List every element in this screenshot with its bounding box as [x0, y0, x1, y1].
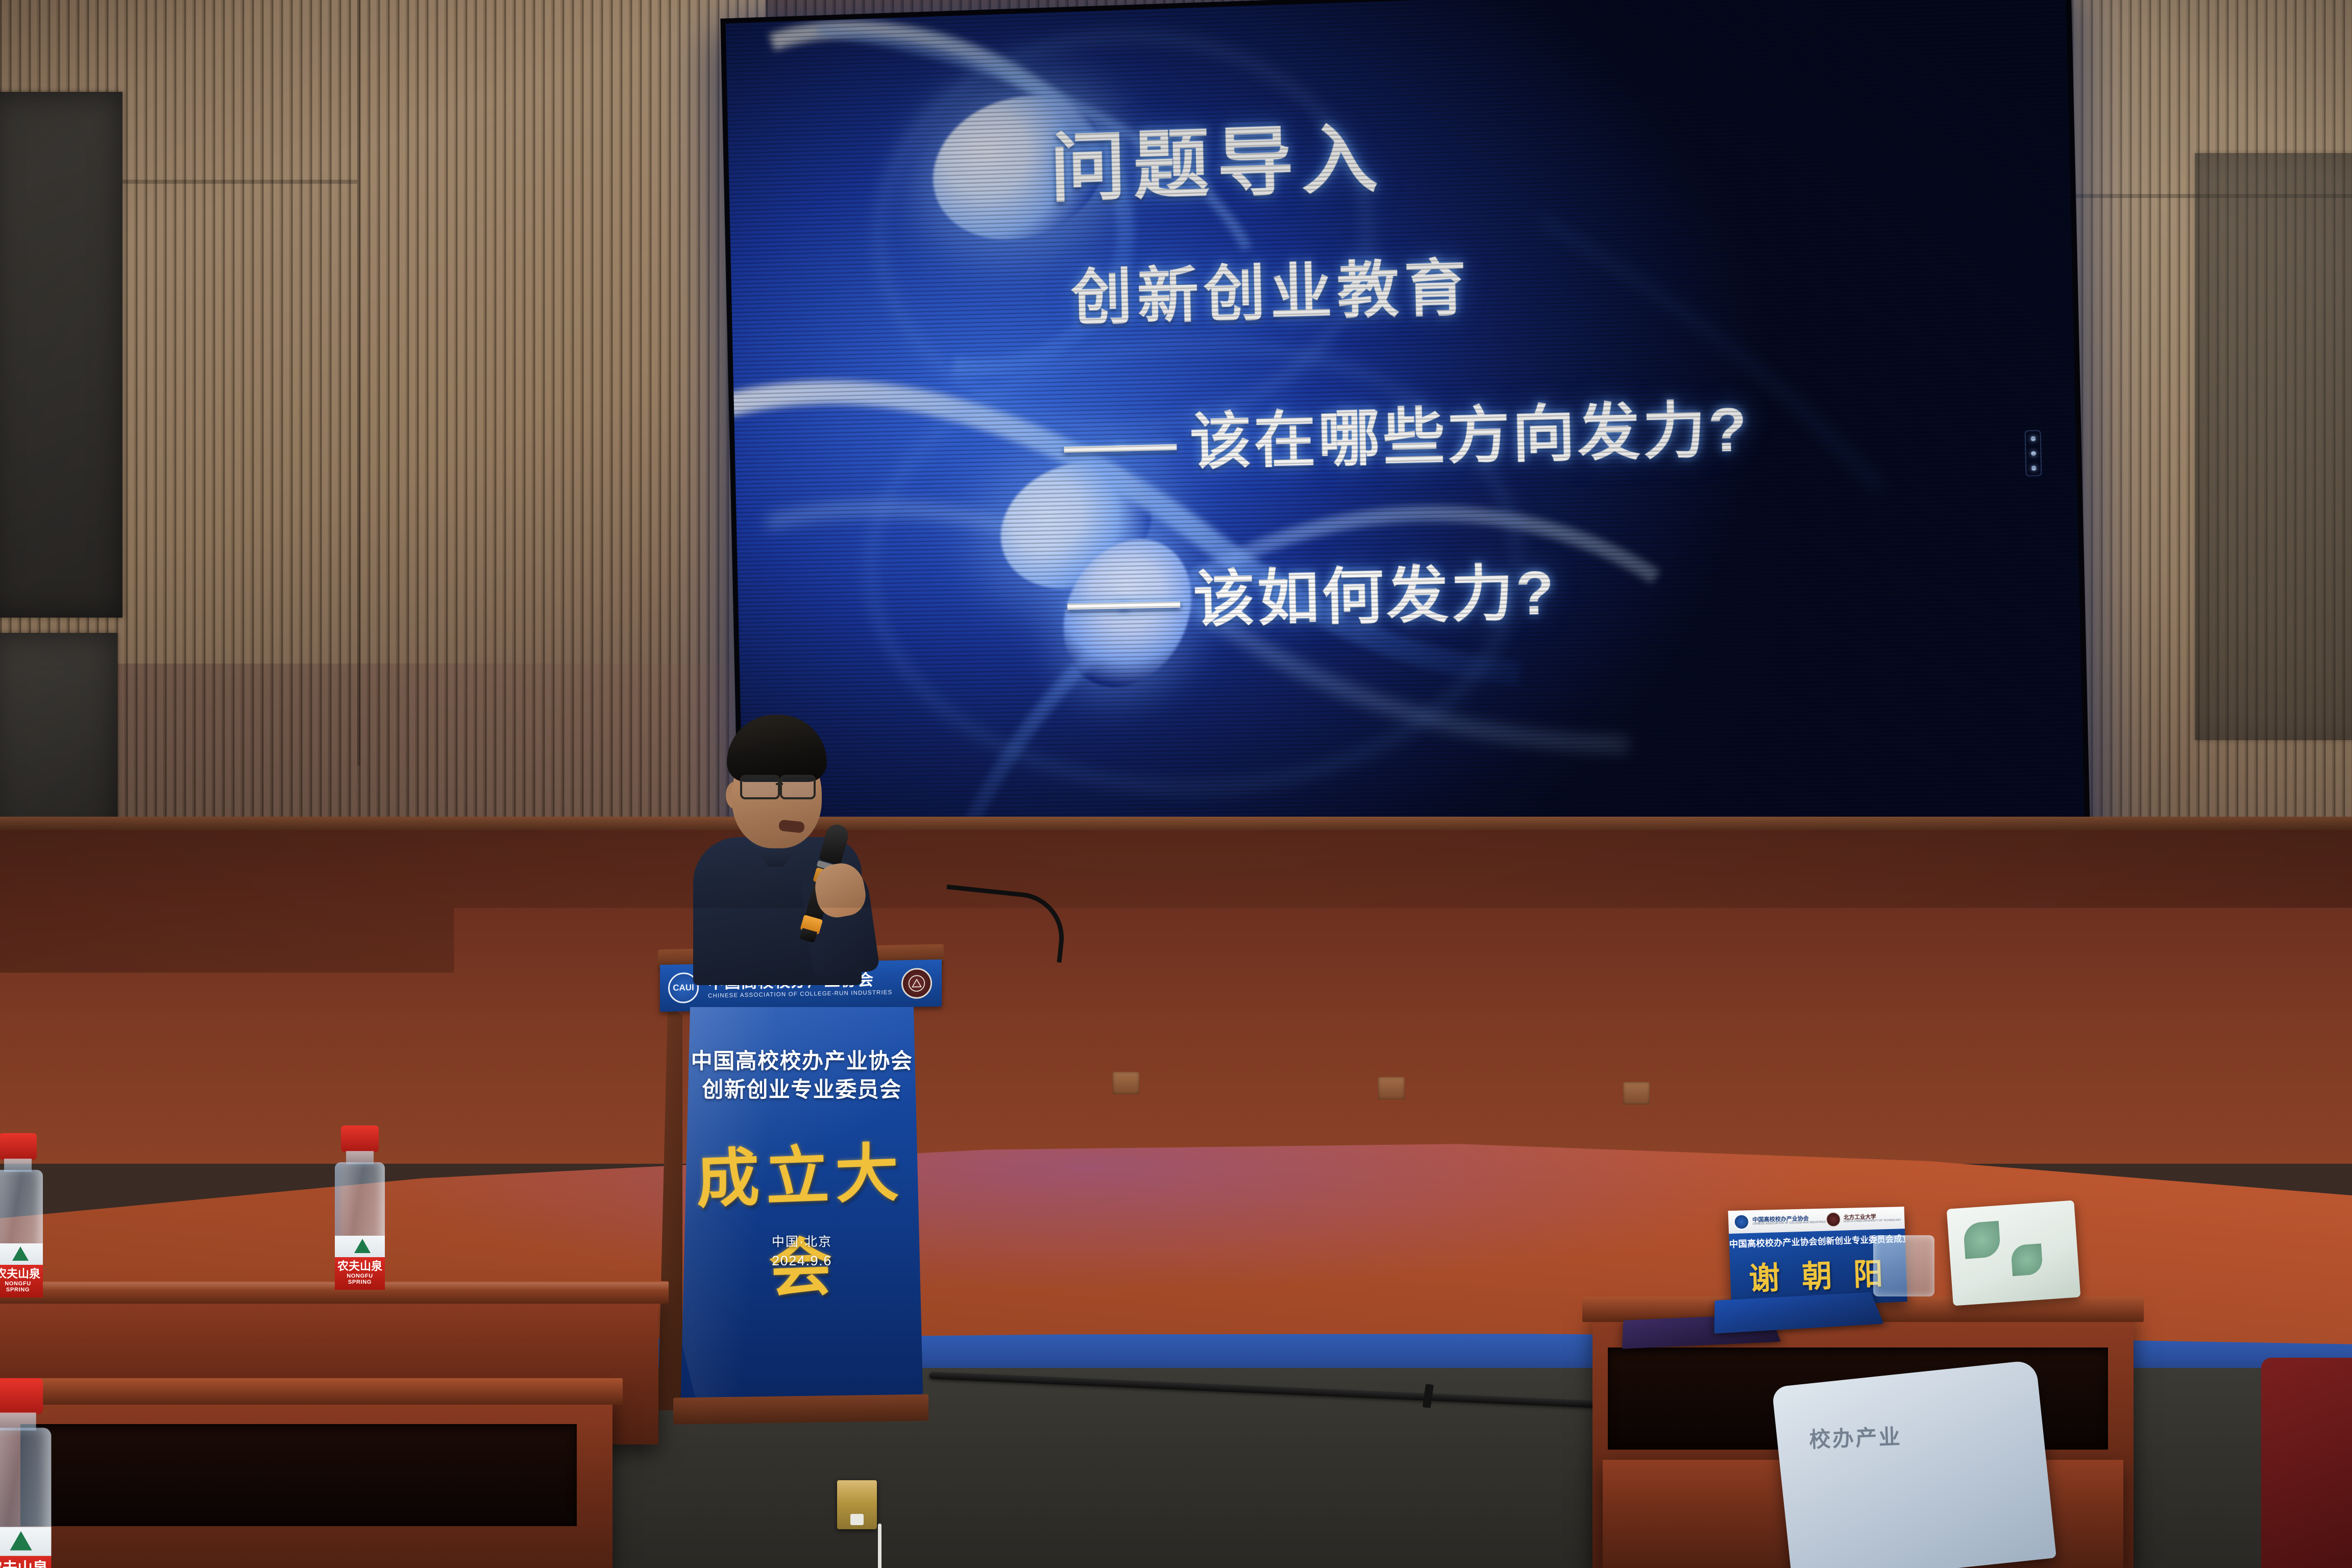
water-bottle-right: 农夫山泉 NONGFU SPRING: [1991, 1110, 2047, 1279]
water-glass: [1873, 1235, 1934, 1296]
bottle-label-white: [1994, 1220, 2044, 1243]
caui-emblem-text: CAUI: [673, 983, 694, 993]
banner-org2-cn: 北方工业大学: [941, 968, 942, 987]
ncut-emblem-icon: [901, 968, 932, 999]
podium-line-1: 中国高校校办产业协会: [680, 1044, 923, 1075]
screen-indicator-dots: [2025, 430, 2042, 477]
indicator-dot-3: [2031, 465, 2036, 470]
ncut-crest-glyph-icon: [908, 974, 925, 992]
bottle-cap: [0, 1378, 43, 1414]
stage-back-trim: [0, 817, 2352, 830]
mountain-icon: [354, 1239, 371, 1253]
ncut-logo-icon: [1825, 1212, 1841, 1228]
bottle-cap: [0, 1133, 37, 1160]
indicator-dot-2: [2031, 451, 2036, 456]
mountain-icon: [10, 1531, 32, 1551]
attendee-hair: [2139, 944, 2343, 1113]
power-cord: [878, 1524, 881, 1568]
mountain-icon: [12, 1246, 29, 1261]
slide-question-1-text: 该在哪些方向发力?: [1189, 395, 1750, 477]
name-card-logo-1: 中国高校校办产业协会 CHINESE ASSOCIATION OF COLLEG…: [1733, 1212, 1826, 1230]
name-card-org2: 北方工业大学 NORTH CHINA UNIVERSITY OF TECHNOL…: [1844, 1214, 1901, 1223]
podium-city: 中国·北京: [680, 1232, 923, 1250]
slide-title: 问题导入: [1049, 97, 1387, 216]
slide-dash-1: ——: [1063, 408, 1168, 481]
slide-subtitle: 创新创业教育: [1070, 237, 1472, 336]
water-bottle-left-1: 农夫山泉 NONGFU SPRING: [0, 1133, 46, 1302]
bottle-brand-en: NONGFU SPRING: [335, 1273, 385, 1285]
speaker-glasses-left-lens: [740, 775, 780, 799]
indicator-dot-1: [2030, 436, 2036, 441]
bottle-brand-en: NONGFU SPRING: [0, 1281, 43, 1293]
bottle-brand-en: NONGFU SPRING: [1994, 1258, 2044, 1270]
bottle-cap: [341, 1125, 379, 1152]
banner-org1-en: CHINESE ASSOCIATION OF COLLEGE-RUN INDUS…: [708, 990, 892, 999]
slide-question-2: ——该如何发力?: [1066, 543, 1557, 641]
bottle-label-red: 农夫山泉 NONGFU SPRING: [0, 1556, 51, 1568]
speaker-person: [679, 715, 898, 980]
left-desk-shelf: [20, 1424, 577, 1526]
speaker-glasses-right-lens: [780, 775, 816, 799]
bottle-label-red: 农夫山泉 NONGFU SPRING: [1994, 1242, 2044, 1275]
conference-photo-scene: 问题导入 创新创业教育 ——该在哪些方向发力? ——该如何发力?: [0, 0, 2352, 1568]
watermark-text: 新闻网: [2212, 1502, 2334, 1558]
wall-vent-1: [1113, 1072, 1139, 1094]
banner-org-2: 北方工业大学 NORTH CHINA UNIVERSITY OF TECHNOL…: [941, 968, 942, 995]
bottle-label-white: [0, 1243, 43, 1266]
podium-headline: 成立大会: [680, 1120, 923, 1312]
bottle-brand-cn: 农夫山泉: [337, 1260, 382, 1272]
water-bottle-left-3: 农夫山泉 NONGFU SPRING: [0, 1378, 56, 1568]
acoustic-panel-left-lower: [0, 633, 117, 847]
outlet-plug: [850, 1514, 864, 1525]
left-desk-front-top: [0, 1378, 623, 1405]
bottle-label-red: 农夫山泉 NONGFU SPRING: [0, 1265, 43, 1297]
podium-date: 2024.9.6: [680, 1253, 923, 1269]
banner-org2-en: NORTH CHINA UNIVERSITY OF TECHNOLOGY: [941, 986, 942, 995]
watermark: 新闻网: [2150, 1502, 2334, 1558]
bottle-label-white: [0, 1527, 51, 1557]
wall-vent-3: [1623, 1082, 1650, 1105]
podium-front-panel: 中国高校校办产业协会 创新创业专业委员会 成立大会 中国·北京 2024.9.6: [680, 1007, 923, 1410]
acoustic-panel-right: [2195, 153, 2352, 740]
slide-dash-2: ——: [1067, 566, 1171, 638]
bottle-label-white: [335, 1236, 385, 1258]
speaker-hair: [727, 715, 827, 782]
bottle-brand-cn: 农夫山泉: [0, 1559, 48, 1568]
podium-base: [673, 1394, 928, 1425]
name-card-org1: 中国高校校办产业协会 CHINESE ASSOCIATION OF COLLEG…: [1752, 1216, 1826, 1226]
ncut-crest-glyph-icon: [2161, 1514, 2192, 1546]
podium-side-panel: [658, 1007, 682, 1410]
name-card-org1-en: CHINESE ASSOCIATION OF COLLEGE-RUN INDUS…: [1752, 1221, 1826, 1226]
water-bottle-left-2: 农夫山泉 NONGFU SPRING: [332, 1125, 388, 1294]
mountain-icon: [2013, 1223, 2029, 1238]
speaker-glasses-bridge: [776, 783, 783, 785]
caui-logo-icon: [1733, 1214, 1750, 1230]
bottle-cap: [2000, 1110, 2038, 1137]
bottle-brand-cn: 农夫山泉: [0, 1267, 40, 1280]
wall-seam-left: [357, 0, 360, 766]
bottle-brand-cn: 农夫山泉: [1996, 1244, 2041, 1257]
bottle-label-red: 农夫山泉 NONGFU SPRING: [335, 1257, 385, 1290]
ncut-crest-icon: [2150, 1504, 2202, 1556]
seated-attendee: [2062, 944, 2352, 1568]
acoustic-panel-left: [0, 92, 122, 618]
podium-line-2: 创新创业专业委员会: [680, 1072, 923, 1104]
wall-vent-2: [1378, 1077, 1405, 1099]
tote-bag-print: 校办产业: [1808, 1415, 2015, 1484]
slide-question-1: ——该在哪些方向发力?: [1063, 379, 1750, 484]
name-card-org2-en: NORTH CHINA UNIVERSITY OF TECHNOLOGY: [1844, 1219, 1901, 1223]
slide-question-2-text: 该如何发力?: [1192, 559, 1557, 634]
name-card-logo-2: 北方工业大学 NORTH CHINA UNIVERSITY OF TECHNOL…: [1825, 1210, 1901, 1228]
podium: CAUI 中国高校校办产业协会 CHINESE ASSOCIATION OF C…: [658, 947, 944, 1437]
floor-power-outlet: [837, 1480, 877, 1529]
